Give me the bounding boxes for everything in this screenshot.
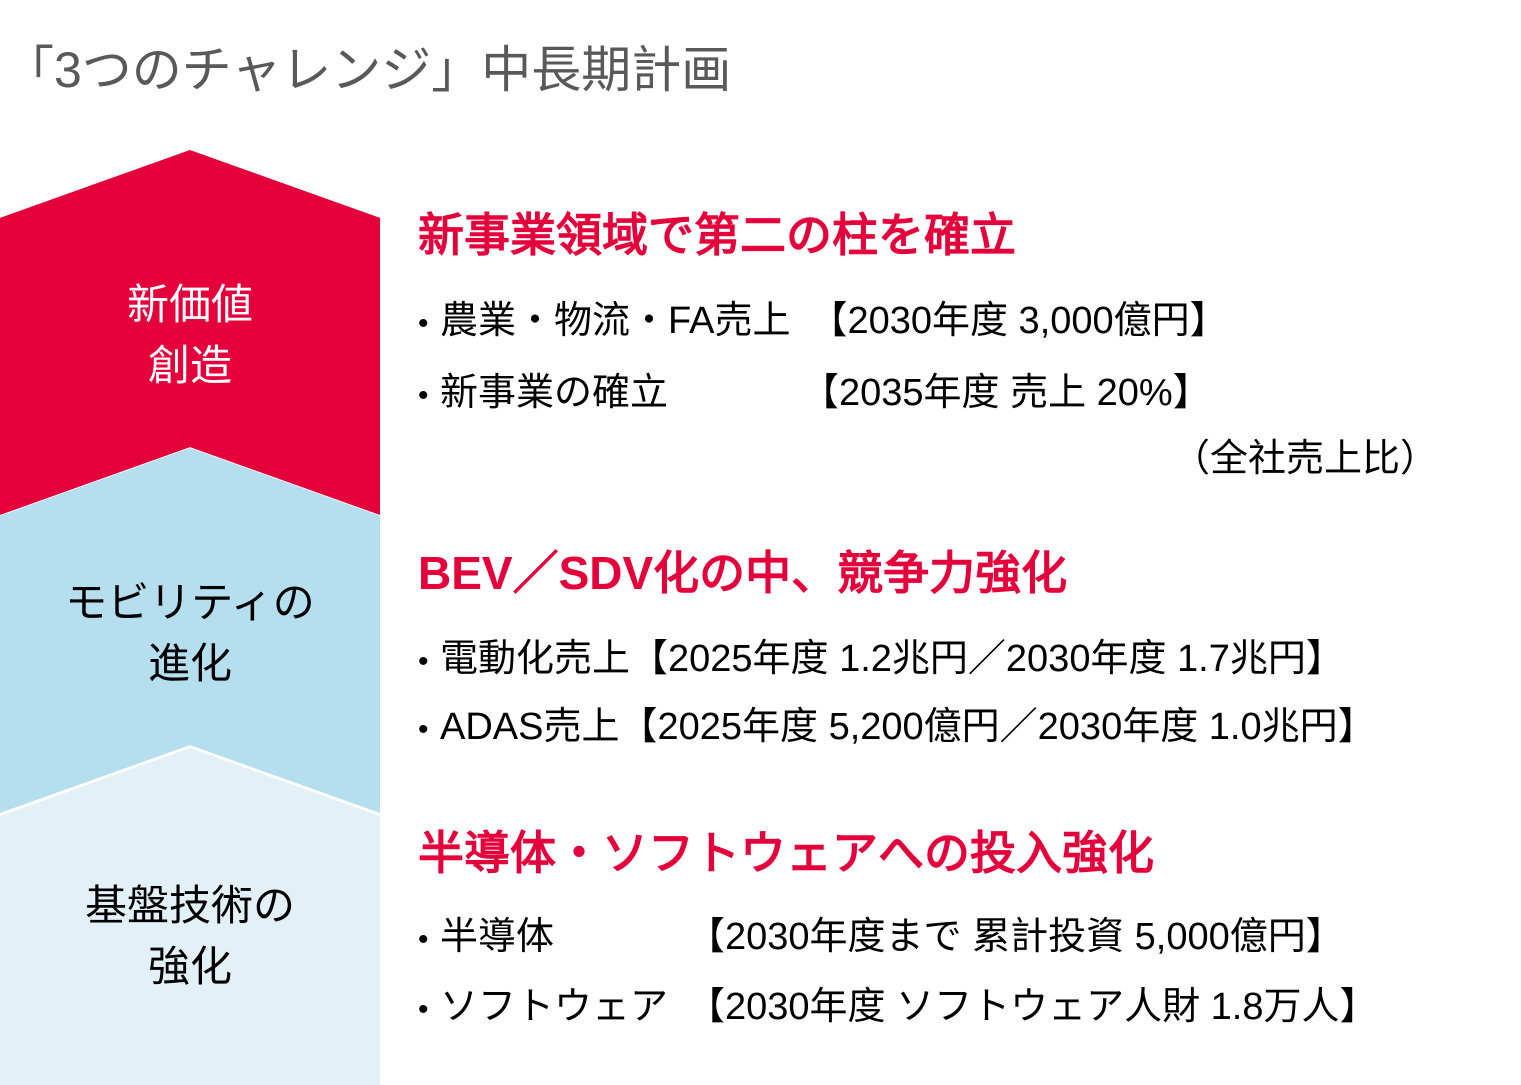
- chevron-new-value-line1: 新価値: [127, 281, 253, 328]
- bullet-dot-icon: •: [418, 647, 440, 677]
- bullet-dot-icon: •: [418, 715, 440, 745]
- section-foundation-heading: 半導体・ソフトウェアへの投入強化: [418, 830, 1516, 876]
- list-item: • 新事業の確立 【2035年度 売上 20%】: [418, 374, 1516, 412]
- section-foundation: 半導体・ソフトウェアへの投入強化 • 半導体 【2030年度まで 累計投資 5,…: [418, 830, 1516, 1026]
- chevron-foundation-line2: 強化: [85, 937, 295, 998]
- list-item-text: 農業・物流・FA売上 【2030年度 3,000億円】: [440, 302, 1228, 340]
- list-item-text: ソフトウェア 【2030年度 ソフトウェア人財 1.8万人】: [440, 988, 1377, 1026]
- section-new-value-note: （全社売上比）: [418, 440, 1516, 478]
- list-item: • ソフトウェア 【2030年度 ソフトウェア人財 1.8万人】: [418, 988, 1516, 1026]
- list-item: • 電動化売上【2025年度 1.2兆円／2030年度 1.7兆円】: [418, 640, 1516, 678]
- chevron-new-value-line2: 創造: [127, 336, 253, 397]
- section-new-value: 新事業領域で第二の柱を確立 • 農業・物流・FA売上 【2030年度 3,000…: [418, 212, 1516, 478]
- chevron-mobility-line2: 進化: [65, 634, 314, 695]
- chevron-new-value-label: 新価値 創造: [127, 269, 253, 397]
- list-item: • 農業・物流・FA売上 【2030年度 3,000億円】: [418, 302, 1516, 340]
- chevron-foundation-line1: 基盤技術の: [85, 882, 295, 929]
- chevron-foundation-label: 基盤技術の 強化: [85, 836, 295, 998]
- chevron-foundation[interactable]: 基盤技術の 強化: [0, 748, 380, 1085]
- page-title: 「3つのチャレンジ」中長期計画: [4, 42, 731, 100]
- list-item-text: 新事業の確立 【2035年度 売上 20%】: [440, 374, 1211, 412]
- list-item-text: 電動化売上【2025年度 1.2兆円／2030年度 1.7兆円】: [440, 640, 1344, 678]
- section-mobility-heading: BEV／SDV化の中、競争力強化: [418, 550, 1516, 596]
- chevron-mobility-line1: モビリティの: [65, 579, 314, 626]
- list-item-text: 半導体 【2030年度まで 累計投資 5,000億円】: [440, 918, 1344, 956]
- section-new-value-heading: 新事業領域で第二の柱を確立: [418, 212, 1516, 258]
- list-item-text: ADAS売上【2025年度 5,200億円／2030年度 1.0兆円】: [440, 708, 1376, 746]
- challenge-chevron-column: 基盤技術の 強化 モビリティの 進化 新価値 創造: [0, 150, 380, 1085]
- list-item: • ADAS売上【2025年度 5,200億円／2030年度 1.0兆円】: [418, 708, 1516, 746]
- bullet-dot-icon: •: [418, 381, 440, 411]
- section-new-value-bullets: • 農業・物流・FA売上 【2030年度 3,000億円】 • 新事業の確立 【…: [418, 302, 1516, 412]
- bullet-dot-icon: •: [418, 925, 440, 955]
- bullet-dot-icon: •: [418, 995, 440, 1025]
- list-item: • 半導体 【2030年度まで 累計投資 5,000億円】: [418, 918, 1516, 956]
- content-column: 新事業領域で第二の柱を確立 • 農業・物流・FA売上 【2030年度 3,000…: [418, 150, 1516, 1085]
- chevron-mobility-label: モビリティの 進化: [65, 567, 314, 695]
- section-foundation-bullets: • 半導体 【2030年度まで 累計投資 5,000億円】 • ソフトウェア 【…: [418, 918, 1516, 1026]
- section-mobility-bullets: • 電動化売上【2025年度 1.2兆円／2030年度 1.7兆円】 • ADA…: [418, 640, 1516, 746]
- section-mobility: BEV／SDV化の中、競争力強化 • 電動化売上【2025年度 1.2兆円／20…: [418, 550, 1516, 746]
- bullet-dot-icon: •: [418, 309, 440, 339]
